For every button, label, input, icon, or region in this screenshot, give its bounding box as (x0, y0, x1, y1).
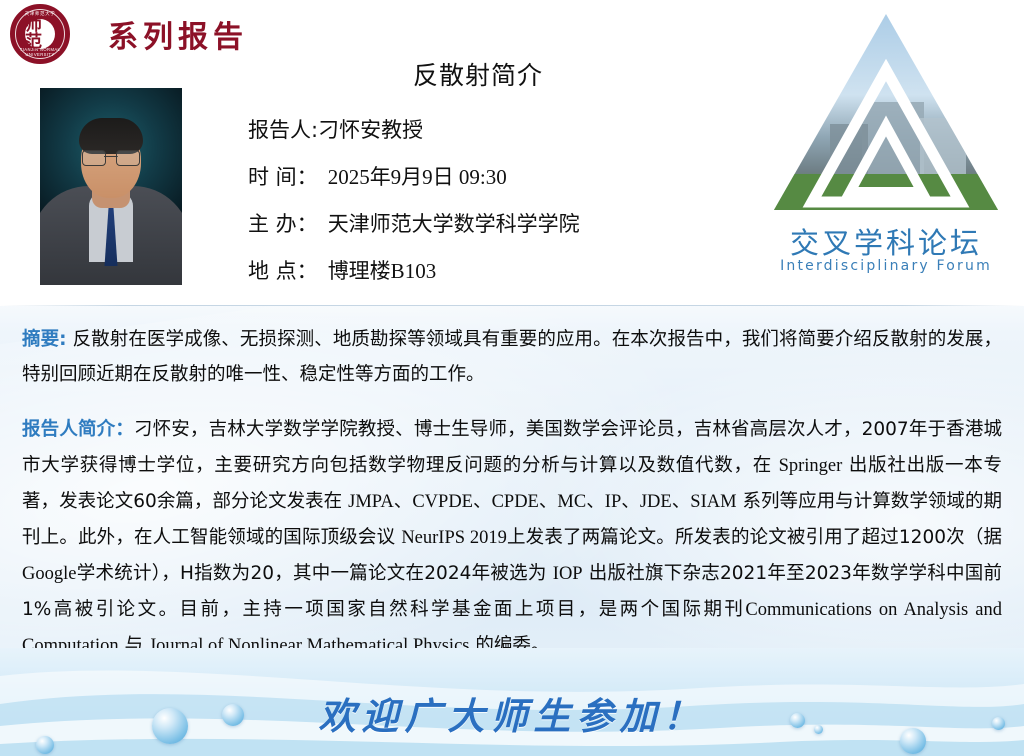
google-scholar-name: Google (22, 564, 76, 584)
host-value: 天津师范大学数学科学学院 (328, 208, 580, 238)
place-row: 地 点： 博理楼B103 (248, 255, 708, 285)
publisher-iop: IOP (553, 564, 583, 584)
bio-label: 报告人简介： (22, 419, 134, 440)
abstract-paragraph: 摘要: 反散射在医学成像、无损探测、地质勘探等领域具有重要的应用。在本次报告中，… (22, 322, 1002, 392)
abstract-text: 反散射在医学成像、无损探测、地质勘探等领域具有重要的应用。在本次报告中，我们将简… (22, 329, 1002, 385)
speaker-row: 报告人: 刁怀安教授 (248, 114, 708, 144)
publisher-springer: Springer (779, 456, 843, 476)
forum-name-cn: 交叉学科论坛 (770, 220, 1002, 262)
journal-abbreviations: JMPA、CVPDE、CPDE、MC、IP、JDE、SIAM (348, 492, 736, 512)
eyeglasses-icon (82, 150, 140, 165)
time-label: 时 间： (248, 161, 318, 191)
time-row: 时 间： 2025年9月9日 09:30 (248, 161, 708, 191)
talk-info-block: 反散射简介 报告人: 刁怀安教授 时 间： 2025年9月9日 09:30 主 … (248, 56, 708, 302)
seal-inner-disc: 师范 (25, 19, 55, 49)
poster-footer: 欢迎广大师生参加！ (0, 648, 1024, 756)
place-value: 博理楼B103 (328, 255, 437, 285)
place-label: 地 点： (248, 255, 318, 285)
seal-glyph-text: 师范 (25, 17, 55, 51)
series-report-label: 系列报告 (108, 12, 248, 56)
speaker-label: 报告人: (248, 114, 318, 144)
forum-name-en: Interdisciplinary Forum (770, 258, 1002, 274)
speaker-portrait-photo (40, 88, 182, 285)
bio-part-5: 学术统计），H指数为20，其中一篇论文在2024年被选为 (76, 563, 552, 584)
conference-neurips: NeurIPS 2019 (401, 528, 507, 548)
host-label: 主 办： (248, 208, 318, 238)
abstract-label: 摘要: (22, 329, 67, 350)
host-row: 主 办： 天津师范大学数学科学学院 (248, 208, 708, 238)
bio-paragraph: 报告人简介：刁怀安，吉林大学数学学院教授、博士生导师，美国数学会评论员，吉林省高… (22, 412, 1002, 664)
talk-title: 反散射简介 (248, 56, 708, 92)
poster-header: 天津师范大学 TIANJIN NORMAL UNIVERSITY 师范 系列报告… (0, 0, 1024, 306)
welcome-banner-text: 欢迎广大师生参加！ (0, 686, 1024, 740)
portrait-hair (79, 118, 143, 154)
seminar-poster: 天津师范大学 TIANJIN NORMAL UNIVERSITY 师范 系列报告… (0, 0, 1024, 756)
triangle-emblem-icon (770, 6, 1002, 218)
bio-part-4: 上发表了两篇论文。所发表的论文被引用了超过1200次（据 (507, 527, 1002, 548)
interdisciplinary-forum-logo: 交叉学科论坛 Interdisciplinary Forum (770, 6, 1002, 296)
time-value: 2025年9月9日 09:30 (328, 161, 507, 191)
university-seal-logo: 天津师范大学 TIANJIN NORMAL UNIVERSITY 师范 (10, 4, 70, 64)
speaker-name: 刁怀安教授 (318, 114, 423, 144)
poster-content: 摘要: 反散射在医学成像、无损探测、地质勘探等领域具有重要的应用。在本次报告中，… (22, 322, 1002, 664)
header-divider (0, 305, 1024, 306)
